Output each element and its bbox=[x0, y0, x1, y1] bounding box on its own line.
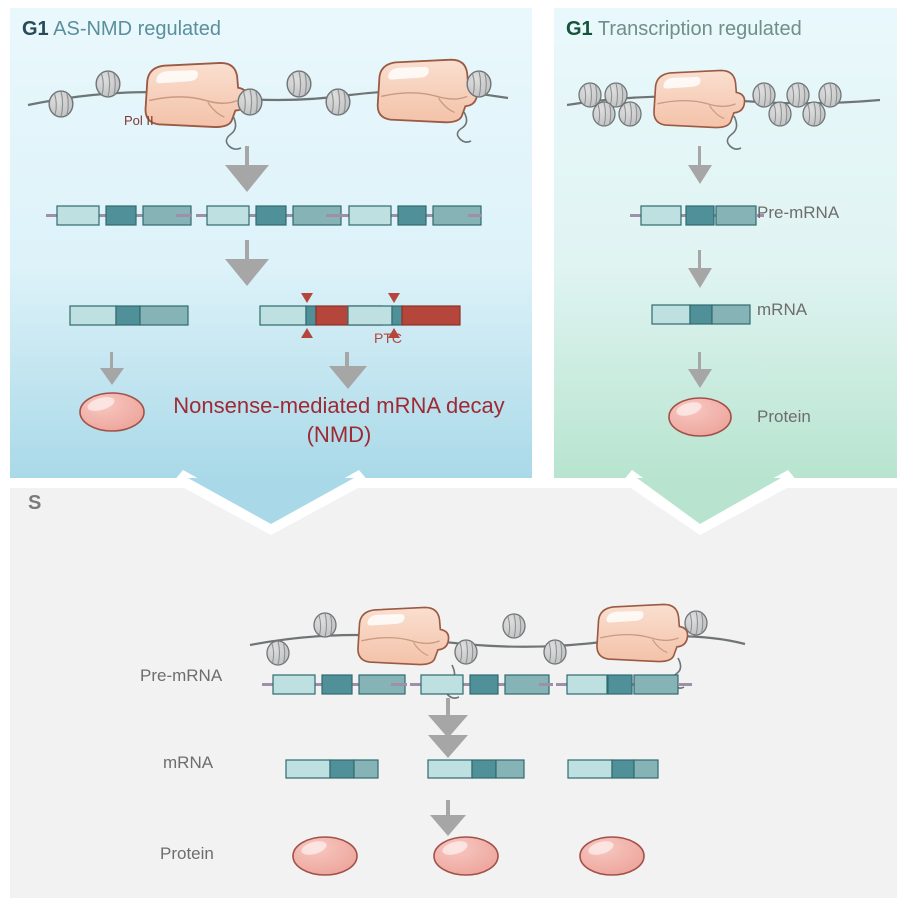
nucleosome bbox=[753, 83, 775, 107]
nucleosome bbox=[593, 102, 615, 126]
panel-g1-as-nmd bbox=[10, 8, 532, 535]
pre-mrna-transcript bbox=[262, 675, 407, 694]
bottom-mrna-label: mRNA bbox=[163, 753, 213, 773]
rna-polymerase bbox=[597, 604, 688, 661]
right-protein bbox=[669, 398, 731, 436]
figure-canvas: G1 AS-NMD regulated G1 Transcription reg… bbox=[0, 0, 907, 906]
left-pre-mrna-row bbox=[46, 206, 482, 225]
nucleosome bbox=[619, 102, 641, 126]
diagram-graphics bbox=[0, 0, 907, 906]
nucleosome bbox=[314, 613, 336, 637]
right-mrna bbox=[652, 305, 750, 324]
nmd-line-1: Nonsense-mediated mRNA decay bbox=[173, 393, 504, 418]
nucleosome bbox=[326, 89, 350, 115]
bottom-pre-mrna-row bbox=[262, 675, 692, 694]
nucleosome bbox=[49, 91, 73, 117]
nucleosome bbox=[467, 71, 491, 97]
panel-left-title-accent: G1 bbox=[22, 18, 49, 40]
mrna-transcript bbox=[286, 760, 378, 778]
nmd-outcome-label: Nonsense-mediated mRNA decay(NMD) bbox=[150, 392, 528, 449]
protein bbox=[293, 837, 357, 875]
rna-polymerase bbox=[378, 60, 477, 123]
protein bbox=[580, 837, 644, 875]
rna-polymerase bbox=[146, 63, 248, 127]
panel-right-title-accent: G1 bbox=[566, 18, 593, 40]
panel-right-title-rest: Transcription regulated bbox=[593, 18, 802, 40]
bottom-mrna-row bbox=[286, 760, 658, 778]
pre-mrna-transcript bbox=[46, 206, 192, 225]
panel-right-title: G1 Transcription regulated bbox=[566, 18, 802, 41]
mrna-transcript bbox=[428, 760, 524, 778]
rna-polymerase bbox=[654, 70, 745, 127]
panel-g1-transcription bbox=[554, 8, 897, 535]
nucleosome bbox=[769, 102, 791, 126]
panel-s-title: S bbox=[28, 492, 41, 515]
nucleosome bbox=[787, 83, 809, 107]
bottom-protein-row bbox=[293, 837, 644, 875]
panel-left-title-rest: AS-NMD regulated bbox=[49, 18, 221, 40]
protein bbox=[434, 837, 498, 875]
pol-ii-label: Pol II bbox=[124, 113, 154, 128]
mrna-productive bbox=[70, 306, 188, 325]
right-pre-mrna-label: Pre-mRNA bbox=[757, 203, 839, 223]
rna-polymerase bbox=[358, 607, 449, 664]
pre-mrna-transcript bbox=[556, 675, 692, 694]
pre-mrna-transcript bbox=[410, 675, 553, 694]
right-mrna-label: mRNA bbox=[757, 300, 807, 320]
nucleosome bbox=[267, 641, 289, 665]
right-protein-label: Protein bbox=[757, 407, 811, 427]
bottom-protein-label: Protein bbox=[160, 844, 214, 864]
mrna-transcript bbox=[568, 760, 658, 778]
nucleosome bbox=[455, 640, 477, 664]
nucleosome bbox=[544, 640, 566, 664]
pre-mrna-transcript bbox=[196, 206, 342, 225]
right-pre-mrna bbox=[630, 206, 764, 225]
nucleosome bbox=[503, 614, 525, 638]
nucleosome bbox=[685, 611, 707, 635]
nucleosome bbox=[96, 71, 120, 97]
nucleosome bbox=[287, 71, 311, 97]
pre-mrna-transcript bbox=[338, 206, 482, 225]
left-protein bbox=[80, 393, 144, 431]
nmd-line-2: (NMD) bbox=[307, 422, 372, 447]
nucleosome bbox=[238, 89, 262, 115]
nucleosome bbox=[819, 83, 841, 107]
ptc-label: PTC bbox=[374, 330, 402, 346]
nucleosome bbox=[803, 102, 825, 126]
panel-left-title: G1 AS-NMD regulated bbox=[22, 18, 221, 41]
bottom-pre-mrna-label: Pre-mRNA bbox=[140, 666, 222, 686]
